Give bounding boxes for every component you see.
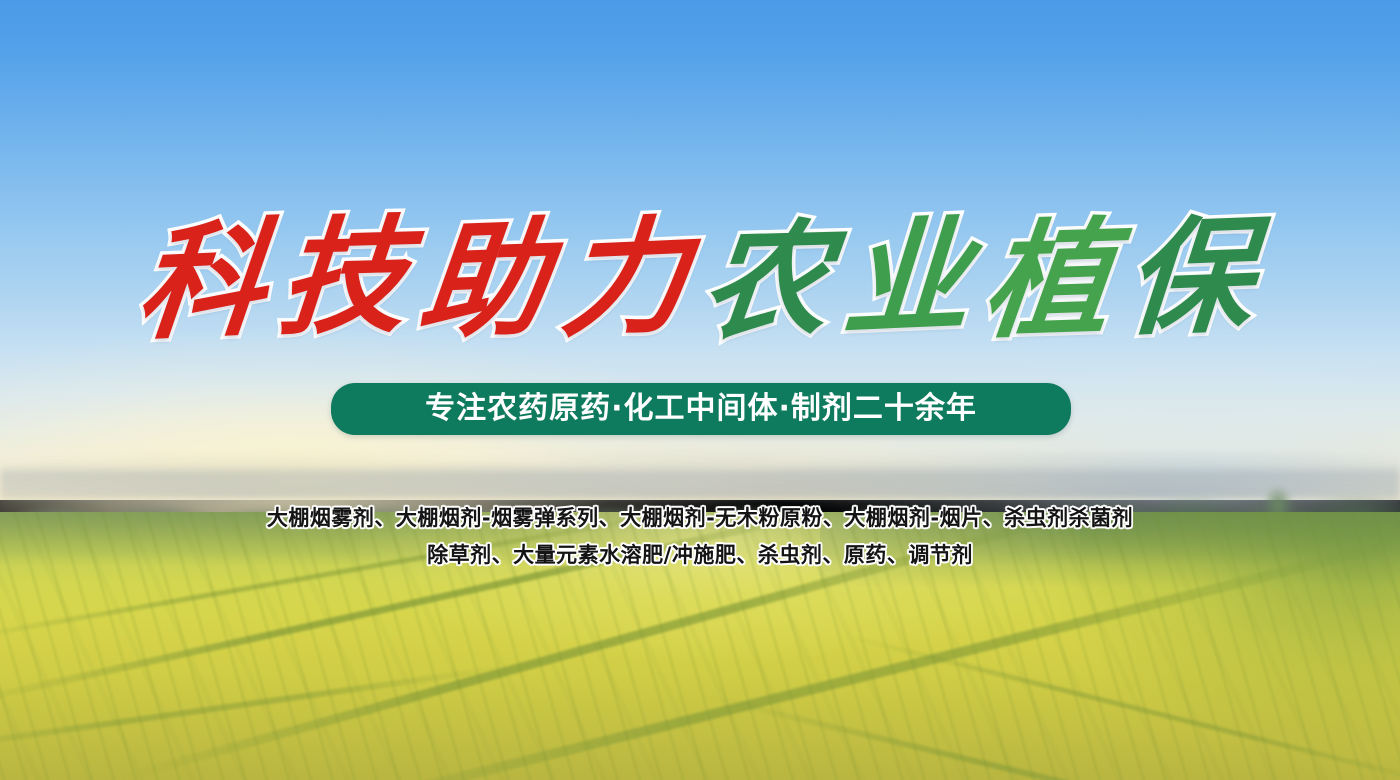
headline-char-5: 农 bbox=[692, 205, 849, 357]
headline: 科技助力农业植保 bbox=[0, 205, 1400, 354]
headline-text: 科技助力农业植保 bbox=[136, 205, 1264, 354]
product-line-1: 大棚烟雾剂、大棚烟剂-烟雾弹系列、大棚烟剂-无木粉原粉、大棚烟剂-烟片、杀虫剂杀… bbox=[0, 500, 1400, 537]
subtitle-badge-text: 专注农药原药·化工中间体·制剂二十余年 bbox=[425, 394, 977, 424]
headline-char-3: 助 bbox=[410, 204, 567, 358]
headline-char-2: 技 bbox=[271, 201, 424, 353]
subtitle-badge: 专注农药原药·化工中间体·制剂二十余年 bbox=[331, 383, 1071, 435]
headline-char-7: 植 bbox=[974, 204, 1132, 357]
product-line-2: 除草剂、大量元素水溶肥/冲施肥、杀虫剂、原药、调节剂 bbox=[0, 537, 1400, 574]
headline-char-1: 科 bbox=[128, 204, 284, 359]
headline-char-8: 保 bbox=[1117, 200, 1270, 354]
headline-char-6: 业 bbox=[836, 201, 987, 356]
promo-banner: 科技助力农业植保 专注农药原药·化工中间体·制剂二十余年 大棚烟雾剂、大棚烟剂-… bbox=[0, 0, 1400, 780]
headline-char-4: 力 bbox=[554, 201, 706, 356]
product-list: 大棚烟雾剂、大棚烟剂-烟雾弹系列、大棚烟剂-无木粉原粉、大棚烟剂-烟片、杀虫剂杀… bbox=[0, 500, 1400, 574]
